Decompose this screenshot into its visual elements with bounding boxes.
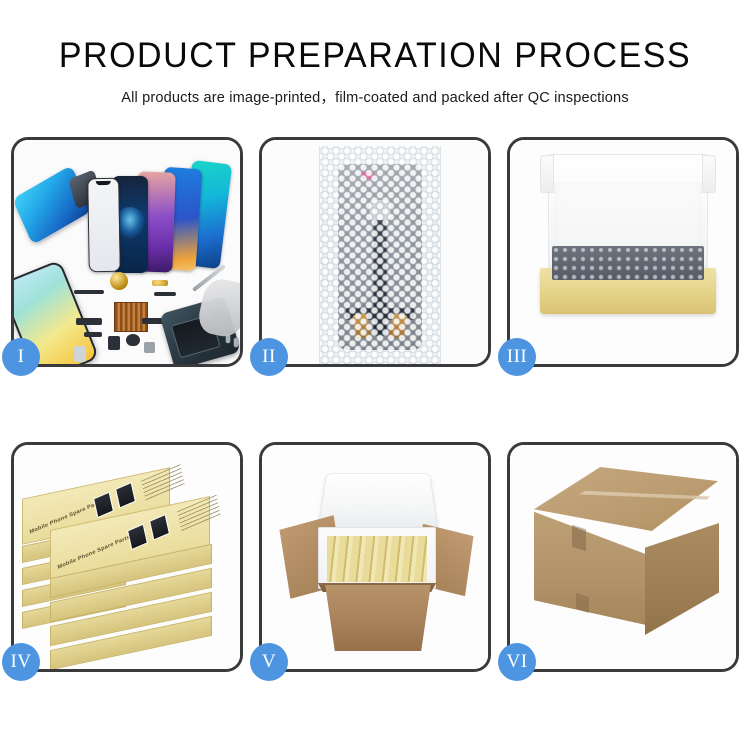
step-badge-4: IV xyxy=(2,643,40,681)
step-image-6 xyxy=(510,445,736,669)
kraft-boxes-inside-icon xyxy=(327,536,427,582)
step-panel-2[interactable]: II xyxy=(259,137,491,367)
button-flex-icon xyxy=(154,292,176,296)
buzzer-icon xyxy=(126,334,140,346)
phone-parts-scene xyxy=(14,140,240,364)
box-window-screen-icon xyxy=(115,482,136,509)
antenna-cable-icon xyxy=(84,332,102,337)
earpiece-mesh-icon xyxy=(74,290,104,294)
step-badge-3: III xyxy=(498,338,536,376)
process-steps-grid: I II xyxy=(11,137,739,672)
bubble-wrap-bag-icon xyxy=(319,146,441,364)
foam-box-lid-icon xyxy=(317,473,438,532)
foam-box-icon xyxy=(318,527,436,589)
sim-tray-icon xyxy=(74,346,86,362)
box-window-screen-icon xyxy=(93,492,114,519)
screw-set-icon xyxy=(144,342,155,353)
box-window-screen-icon xyxy=(127,524,148,551)
step-panel-3[interactable]: III xyxy=(507,137,739,367)
box-window-screen-icon xyxy=(149,514,170,541)
kraft-tray-icon xyxy=(540,268,716,314)
step-panel-4[interactable]: Mobile Phone Spare Parts Mobile Phone Sp… xyxy=(11,442,243,672)
carton-right-face xyxy=(645,523,719,635)
notch-icon xyxy=(96,181,111,185)
page-title: PRODUCT PREPARATION PROCESS xyxy=(11,38,739,73)
carton-seam xyxy=(576,593,589,613)
carton-packing-scene xyxy=(262,445,488,669)
vibration-motor-icon xyxy=(110,272,128,290)
page-subtitle: All products are image-printed，film-coat… xyxy=(0,86,750,107)
bubble-bag-scene xyxy=(262,140,488,364)
spare-parts-group xyxy=(74,272,240,364)
stacked-boxes-scene: Mobile Phone Spare Parts Mobile Phone Sp… xyxy=(14,445,240,669)
box-spec-lines xyxy=(141,464,185,501)
carton-top-face xyxy=(534,467,718,531)
phone-lineup xyxy=(66,158,240,273)
screws-group-icon xyxy=(226,334,240,352)
open-tray-scene xyxy=(510,140,736,364)
connector-icon xyxy=(152,280,168,286)
step-panel-5[interactable]: V xyxy=(259,442,491,672)
step-image-2 xyxy=(262,140,488,364)
step-panel-1[interactable]: I xyxy=(11,137,243,367)
sealed-carton-scene xyxy=(510,445,736,669)
step-badge-2: II xyxy=(250,338,288,376)
step-image-3 xyxy=(510,140,736,364)
step-badge-6: VI xyxy=(498,643,536,681)
chip-grid-icon xyxy=(114,302,148,332)
retail-box-stack: Mobile Phone Spare Parts Mobile Phone Sp… xyxy=(16,461,240,661)
phone-glass-screen-icon xyxy=(87,178,121,273)
step-badge-1: I xyxy=(2,338,40,376)
carton-seam xyxy=(572,525,586,552)
step-image-5 xyxy=(262,445,488,669)
header: PRODUCT PREPARATION PROCESS All products… xyxy=(0,0,750,107)
bubble-texture xyxy=(320,146,440,364)
step-badge-5: V xyxy=(250,643,288,681)
step-image-4: Mobile Phone Spare Parts Mobile Phone Sp… xyxy=(14,445,240,669)
flex-cable-icon xyxy=(76,318,102,325)
carton-body-icon xyxy=(318,585,438,651)
speaker-module-icon xyxy=(108,336,120,350)
box-spec-lines xyxy=(177,495,221,532)
step-panel-6[interactable]: VI xyxy=(507,442,739,672)
step-image-1 xyxy=(14,140,240,364)
